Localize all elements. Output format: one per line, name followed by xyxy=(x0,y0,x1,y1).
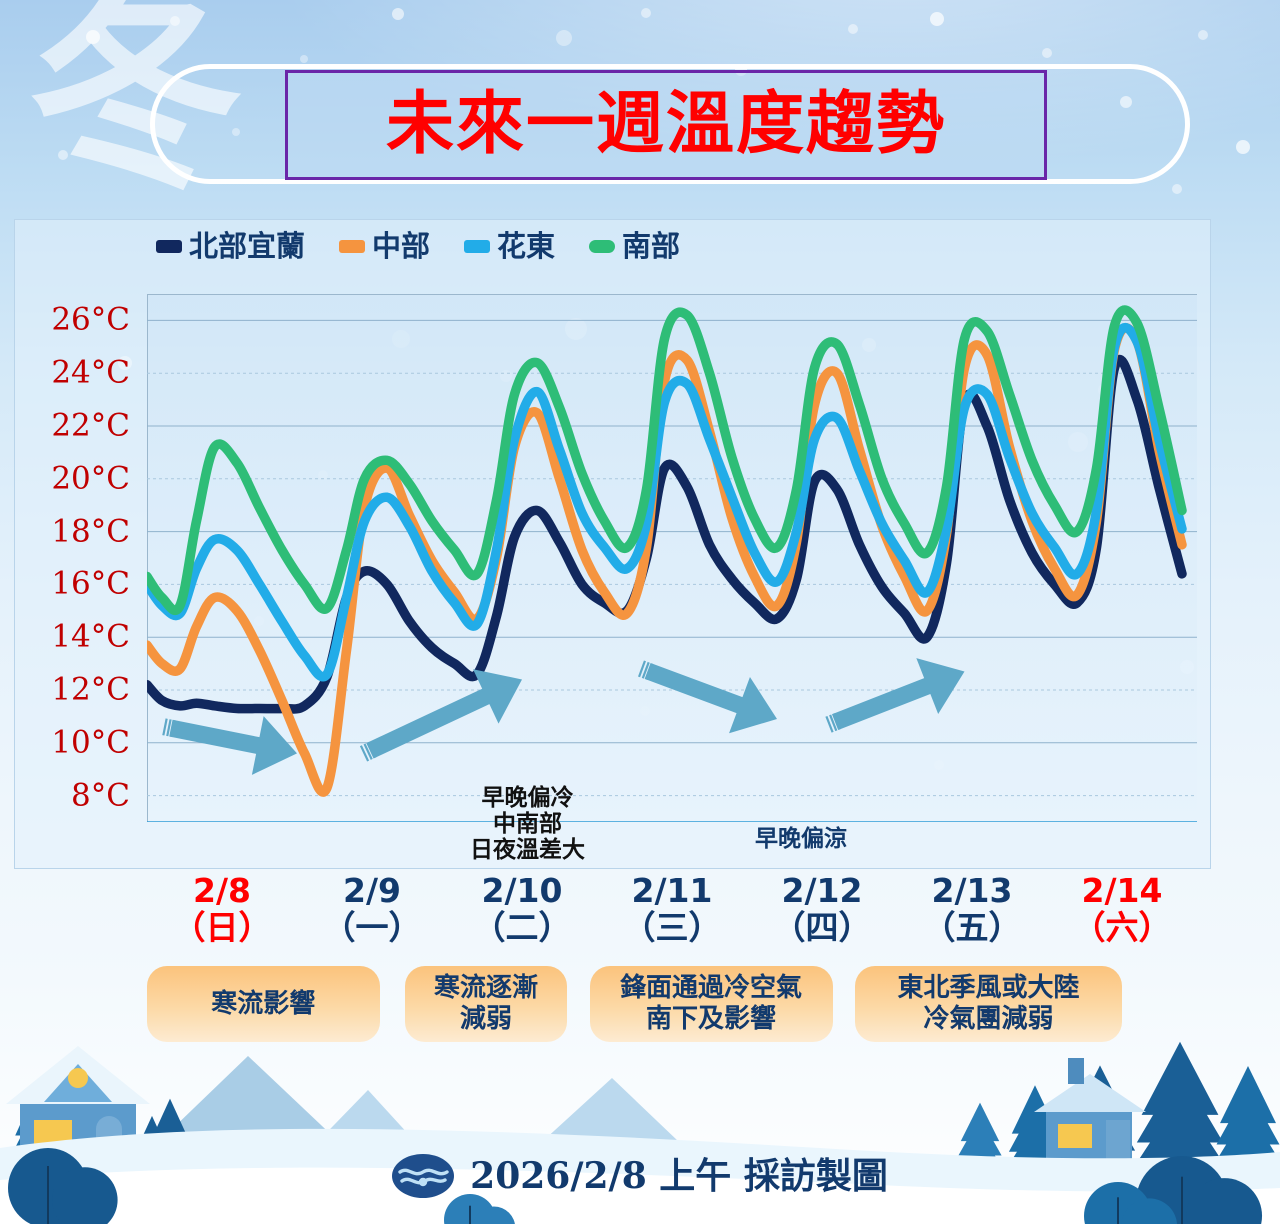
y-axis-tick: 22°C xyxy=(51,411,130,442)
day-date: 2/12 xyxy=(747,873,897,910)
legend-label-hualien-taitung: 花東 xyxy=(497,232,555,261)
weather-note-line-1: 東北季風或大陸 xyxy=(897,973,1079,1004)
day-weekday: （四） xyxy=(747,910,897,947)
day-weekday: （三） xyxy=(597,910,747,947)
annotation-morning-evening-cool: 早晚偏涼 xyxy=(755,827,847,853)
annotation-morning-evening-cold: 早晚偏冷 中南部 日夜溫差大 xyxy=(470,786,585,863)
y-axis-tick: 8°C xyxy=(71,780,130,811)
snow-dot xyxy=(556,30,572,46)
y-axis-tick: 26°C xyxy=(51,305,130,336)
snow-dot xyxy=(848,24,858,34)
day-weekday: （五） xyxy=(897,910,1047,947)
day-label-2-14: 2/14（六） xyxy=(1047,873,1197,957)
day-axis: 2/8（日）2/9（一）2/10（二）2/11（三）2/12（四）2/13（五）… xyxy=(147,873,1197,957)
arrow-body xyxy=(637,643,787,747)
weather-note-text: 寒流影響 xyxy=(211,989,315,1020)
arrow-body xyxy=(824,644,975,750)
y-axis-tick: 18°C xyxy=(51,516,130,547)
day-label-2-13: 2/13（五） xyxy=(897,873,1047,957)
snow-dot xyxy=(1236,140,1250,154)
legend-label-south: 南部 xyxy=(622,232,680,261)
snow-dot xyxy=(930,12,944,26)
footer: 2026/2/8 上午 採訪製圖 xyxy=(0,1145,1280,1207)
snow-dot xyxy=(1172,184,1182,194)
legend-label-central: 中部 xyxy=(372,232,430,261)
day-date: 2/10 xyxy=(447,873,597,910)
snow-dot xyxy=(641,8,651,18)
legend-item-central: 中部 xyxy=(339,232,430,261)
wave-icon xyxy=(392,1154,454,1198)
temperature-line-chart xyxy=(147,294,1197,822)
y-axis-tick: 20°C xyxy=(51,463,130,494)
y-axis-tick: 10°C xyxy=(51,727,130,758)
annotation-cold-line-1: 早晚偏冷 xyxy=(470,786,585,812)
day-weekday: （二） xyxy=(447,910,597,947)
y-axis-tick: 24°C xyxy=(51,358,130,389)
legend-swatch-central xyxy=(339,240,365,253)
annotation-cold-line-2: 中南部 xyxy=(470,812,585,838)
day-weekday: （六） xyxy=(1047,910,1197,947)
legend-swatch-hualien-taitung xyxy=(464,240,490,253)
y-axis-tick: 12°C xyxy=(51,675,130,706)
page-title-box: 未來一週溫度趨勢 xyxy=(285,70,1047,180)
day-label-2-8: 2/8（日） xyxy=(147,873,297,957)
snow-dot xyxy=(392,8,404,20)
day-label-2-10: 2/10（二） xyxy=(447,873,597,957)
y-axis-tick: 16°C xyxy=(51,569,130,600)
arrow-down-2-icon xyxy=(632,641,788,747)
legend-label-north: 北部宜蘭 xyxy=(189,232,305,261)
day-label-2-9: 2/9（一） xyxy=(297,873,447,957)
snow-dot xyxy=(1042,48,1052,58)
y-axis-tick: 14°C xyxy=(51,622,130,653)
annotation-cold-line-3: 日夜溫差大 xyxy=(470,838,585,864)
weather-note-line-1: 鋒面通過冷空氣 xyxy=(620,973,802,1004)
day-date: 2/9 xyxy=(297,873,447,910)
day-date: 2/14 xyxy=(1047,873,1197,910)
arrow-tail-stripe xyxy=(163,719,166,736)
cwa-wave-logo xyxy=(392,1154,454,1198)
series-line-south xyxy=(147,310,1182,610)
y-axis-labels: 26°C24°C22°C20°C18°C16°C14°C12°C10°C8°C xyxy=(0,294,140,822)
day-label-2-12: 2/12（四） xyxy=(747,873,897,957)
day-label-2-11: 2/11（三） xyxy=(597,873,747,957)
arrow-body xyxy=(357,652,535,778)
legend-swatch-north xyxy=(156,240,182,253)
legend-swatch-south xyxy=(589,240,615,253)
wave-dot xyxy=(419,1178,427,1186)
arrow-up-2-icon xyxy=(819,644,976,753)
page-title: 未來一週溫度趨勢 xyxy=(386,91,946,159)
legend-item-south: 南部 xyxy=(589,232,680,261)
legend-item-hualien-taitung: 花東 xyxy=(464,232,555,261)
legend-item-north: 北部宜蘭 xyxy=(156,232,305,261)
weather-note-line-1: 寒流逐漸 xyxy=(434,973,538,1004)
day-weekday: （日） xyxy=(147,910,297,947)
day-date: 2/13 xyxy=(897,873,1047,910)
snow-dot xyxy=(1198,30,1208,40)
day-weekday: （一） xyxy=(297,910,447,947)
footer-credit: 2026/2/8 上午 採訪製圖 xyxy=(470,1158,888,1194)
arrow-up-1-icon xyxy=(352,652,535,780)
day-date: 2/8 xyxy=(147,873,297,910)
day-date: 2/11 xyxy=(597,873,747,910)
chart-legend: 北部宜蘭 中部 花東 南部 xyxy=(156,232,680,261)
